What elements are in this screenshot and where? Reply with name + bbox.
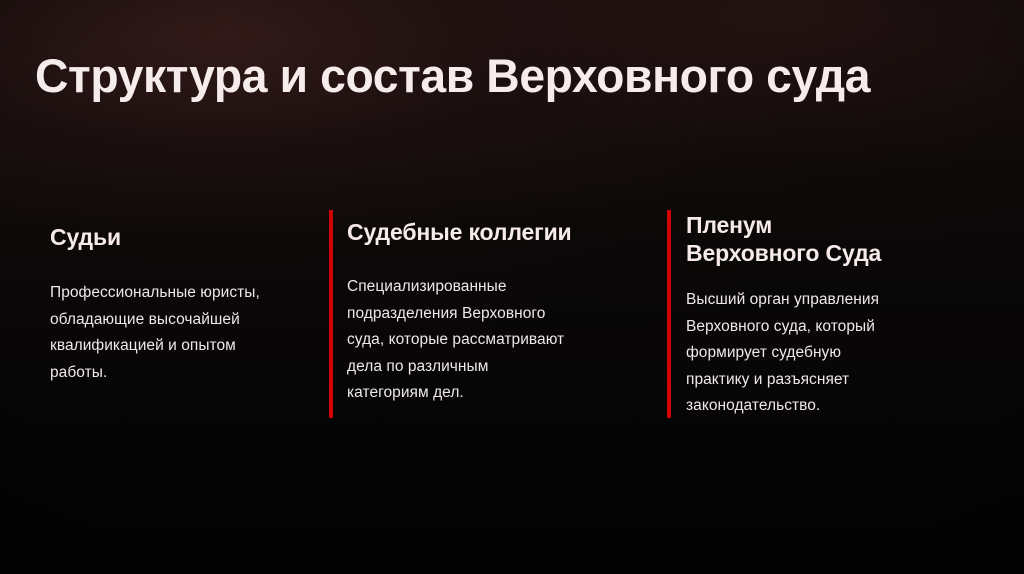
column-divider-left: [329, 210, 333, 418]
slide-canvas: Структура и состав Верховного суда Судьи…: [0, 0, 1024, 574]
column-judicial-collegiums: Судебные коллегии Специализированные под…: [344, 205, 644, 435]
column-heading: Судьи: [50, 205, 322, 251]
column-heading: Пленум Верховного Суда: [686, 205, 976, 267]
column-divider-right: [667, 210, 671, 418]
column-body-text: Специализированные подразделения Верховн…: [344, 246, 644, 407]
column-plenum: Пленум Верховного Суда Высший орган упра…: [686, 205, 976, 435]
slide-title: Структура и состав Верховного суда: [35, 49, 981, 103]
column-body-text: Профессиональные юристы, обладающие высо…: [50, 251, 322, 386]
columns-container: Судьи Профессиональные юристы, обладающи…: [0, 205, 1024, 435]
column-heading: Судебные коллегии: [344, 205, 644, 246]
column-judges: Судьи Профессиональные юристы, обладающи…: [50, 205, 322, 435]
column-body-text: Высший орган управления Верховного суда,…: [686, 267, 976, 420]
